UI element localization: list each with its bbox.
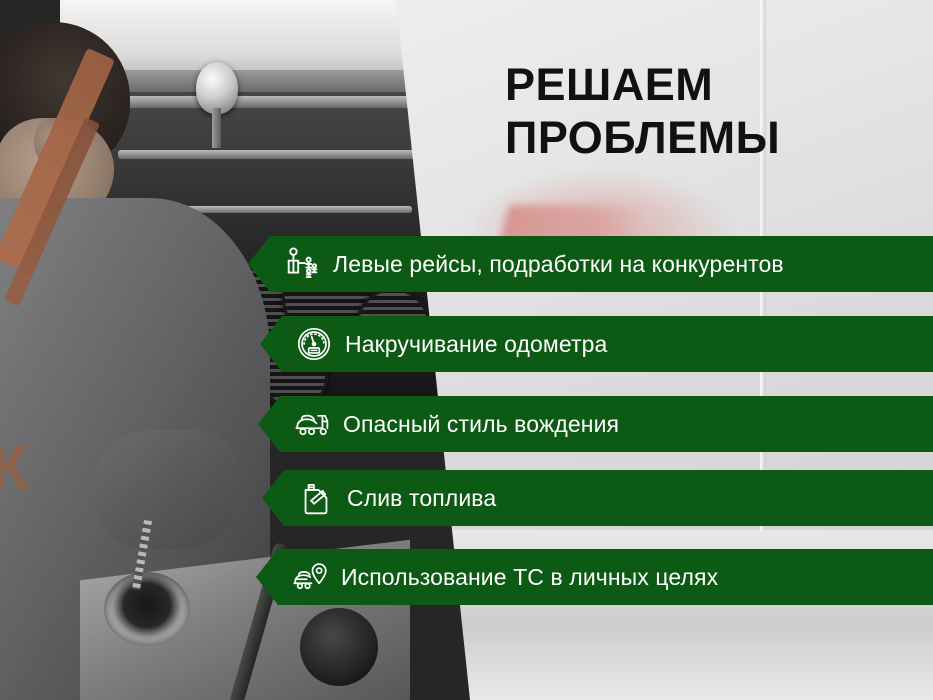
list-item-label: Опасный стиль вождения (343, 411, 619, 438)
list-item-label: Накручивание одометра (345, 331, 607, 358)
rail-1 (110, 96, 440, 108)
list-item-odometer-tampering[interactable]: Накручивание одометра (260, 316, 933, 372)
fuel-canister-icon (296, 478, 336, 518)
promo-slide: К РЕШАЕМ ПРОБЛЕМЫ (0, 0, 933, 700)
list-item-dangerous-driving[interactable]: Опасный стиль вождения (258, 396, 933, 452)
car-location-pin-icon (290, 557, 330, 597)
odometer-gauge-icon (294, 324, 334, 364)
work-lamp-stem (212, 108, 221, 148)
page-title: РЕШАЕМ ПРОБЛЕМЫ (505, 58, 905, 164)
list-item-label: Слив топлива (347, 485, 496, 512)
rail-2 (118, 150, 418, 159)
tow-truck-icon (292, 404, 332, 444)
page-title-line-1: РЕШАЕМ (505, 58, 905, 111)
list-item-personal-use[interactable]: Использование ТС в личных целях (256, 549, 933, 605)
fuel-cap (300, 608, 378, 686)
person-directing-workers-icon (282, 244, 322, 284)
jacket-logo: К (0, 432, 44, 502)
work-lamp (196, 62, 238, 114)
list-item-label: Левые рейсы, подработки на конкурентов (333, 251, 784, 278)
fuel-filler-neck (104, 572, 190, 646)
list-item-illegal-trips[interactable]: Левые рейсы, подработки на конкурентов (248, 236, 933, 292)
mechanic-arm (96, 430, 236, 550)
page-title-line-2: ПРОБЛЕМЫ (505, 111, 905, 164)
list-item-label: Использование ТС в личных целях (341, 564, 718, 591)
list-item-fuel-siphoning[interactable]: Слив топлива (262, 470, 933, 526)
